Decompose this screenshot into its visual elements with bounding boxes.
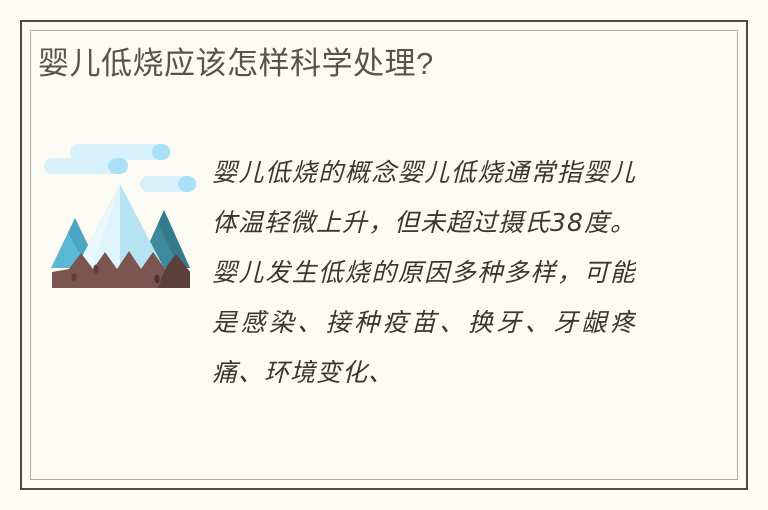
snow-mountain-icon: [38, 136, 204, 302]
illustration-container: [38, 136, 204, 302]
article-card-page: 婴儿低烧应该怎样科学处理?: [0, 0, 768, 510]
page-title: 婴儿低烧应该怎样科学处理?: [38, 44, 434, 84]
card-content: 婴儿低烧的概念婴儿低烧通常指婴儿体温轻微上升，但未超过摄氏38度。婴儿发生低烧的…: [0, 108, 768, 510]
article-body-text: 婴儿低烧的概念婴儿低烧通常指婴儿体温轻微上升，但未超过摄氏38度。婴儿发生低烧的…: [212, 148, 636, 398]
